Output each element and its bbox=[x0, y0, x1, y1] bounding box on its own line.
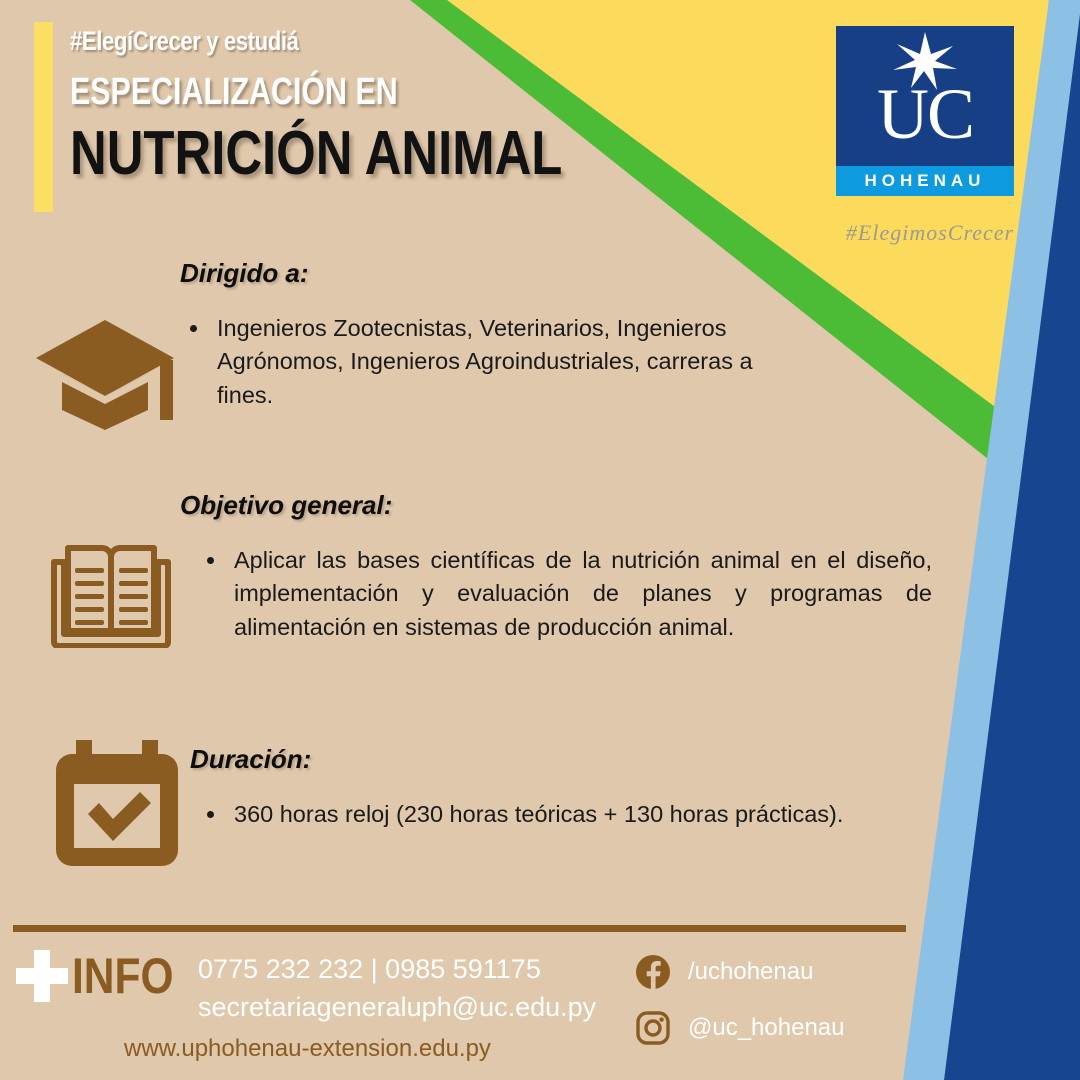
graduation-cap-icon bbox=[34, 318, 176, 435]
plus-icon bbox=[14, 948, 70, 1004]
website-url: www.uphohenau-extension.edu.py bbox=[124, 1035, 491, 1063]
footer-divider bbox=[13, 925, 906, 932]
program-title: NUTRICIÓN ANIMAL bbox=[70, 123, 562, 185]
facebook-icon bbox=[636, 955, 670, 989]
instagram-icon bbox=[636, 1011, 670, 1045]
elegimos-crecer-script: #ElegimosCrecer bbox=[830, 220, 1030, 246]
yellow-accent-bar bbox=[34, 22, 53, 212]
section-dirigido-heading: Dirigido a: bbox=[180, 258, 309, 289]
logo-hohenau-label: HOHENAU bbox=[836, 166, 1014, 196]
calendar-check-icon bbox=[54, 740, 180, 873]
logo-uc-letters: UC bbox=[836, 78, 1014, 150]
list-item: 360 horas reloj (230 horas teóricas + 13… bbox=[228, 798, 942, 831]
section-duracion-body: 360 horas reloj (230 horas teóricas + 13… bbox=[202, 798, 942, 831]
email-address: secretariageneraluph@uc.edu.py bbox=[198, 988, 596, 1026]
list-item: Aplicar las bases científicas de la nutr… bbox=[228, 544, 932, 644]
poster-canvas: #ElegíCrecer y estudiá ESPECIALIZACIÓN E… bbox=[0, 0, 1080, 1080]
program-pretitle: ESPECIALIZACIÓN EN bbox=[70, 73, 550, 111]
info-label: INFO bbox=[72, 951, 174, 1001]
section-duracion-heading: Duración: bbox=[190, 744, 311, 775]
open-book-icon bbox=[46, 538, 176, 653]
contact-details: 0775 232 232 | 0985 591175 secretariagen… bbox=[198, 950, 596, 1027]
hashtag-tagline: #ElegíCrecer y estudiá bbox=[70, 28, 562, 55]
social-row-instagram[interactable]: @uc_hohenau bbox=[636, 1011, 845, 1045]
list-item: Ingenieros Zootecnistas, Veterinarios, I… bbox=[211, 312, 805, 412]
header-text-group: #ElegíCrecer y estudiá ESPECIALIZACIÓN E… bbox=[70, 28, 670, 185]
social-row-facebook[interactable]: /uchohenau bbox=[636, 955, 845, 989]
section-dirigido-body: Ingenieros Zootecnistas, Veterinarios, I… bbox=[185, 312, 805, 412]
uc-hohenau-logo: UC HOHENAU bbox=[836, 26, 1014, 196]
facebook-handle: /uchohenau bbox=[688, 958, 813, 986]
section-objetivo-heading: Objetivo general: bbox=[180, 490, 392, 521]
section-objetivo-body: Aplicar las bases científicas de la nutr… bbox=[202, 544, 932, 644]
social-links: /uchohenau @uc_hohenau bbox=[636, 955, 845, 1067]
info-block: INFO bbox=[14, 948, 191, 1004]
instagram-handle: @uc_hohenau bbox=[688, 1014, 845, 1042]
phone-numbers: 0775 232 232 | 0985 591175 bbox=[198, 950, 596, 988]
